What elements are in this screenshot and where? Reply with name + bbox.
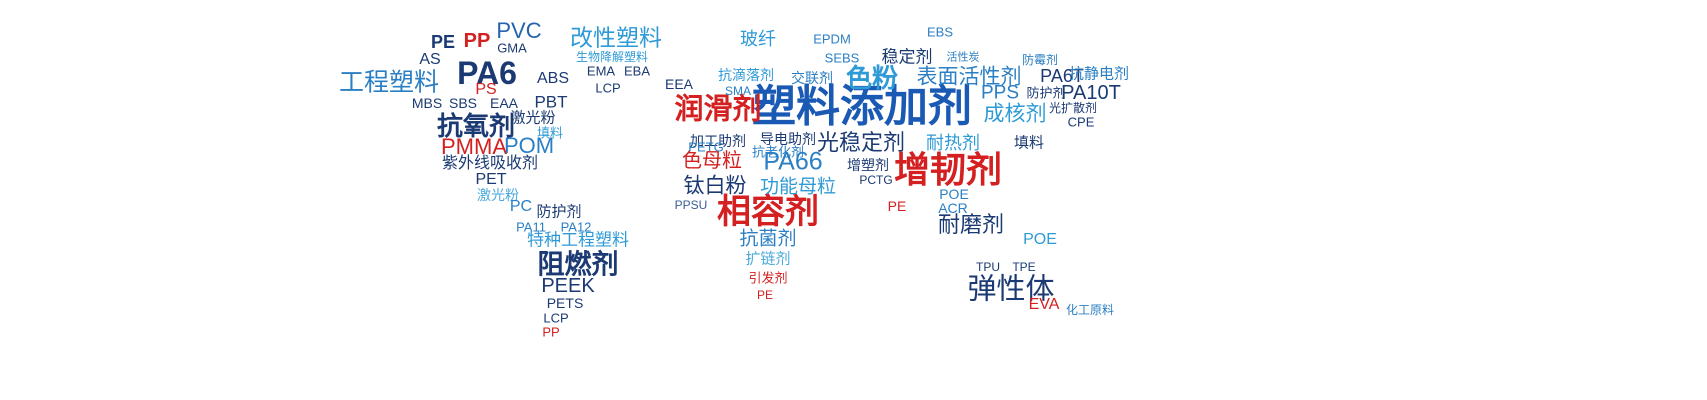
cloud-word[interactable]: 抗菌剂 <box>739 230 796 249</box>
cloud-word[interactable]: 引发剂 <box>748 272 787 285</box>
cloud-word[interactable]: 防护剂 <box>536 205 581 220</box>
cloud-word[interactable]: TPE <box>1012 261 1035 273</box>
cloud-word[interactable]: PCTG <box>859 174 892 186</box>
cloud-word[interactable]: PA11 <box>516 221 546 234</box>
cloud-word[interactable]: PET <box>475 172 506 188</box>
cloud-word[interactable]: 功能母粒 <box>760 178 836 197</box>
cloud-word[interactable]: 填料 <box>537 127 563 140</box>
cloud-word[interactable]: PBT <box>534 94 567 111</box>
cloud-word[interactable]: SMA <box>725 85 751 97</box>
cloud-word[interactable]: 紫外线吸收剂 <box>442 156 538 172</box>
cloud-word[interactable]: PP <box>464 31 491 51</box>
cloud-word[interactable]: EMA <box>587 65 615 78</box>
cloud-word[interactable]: LCP <box>543 312 568 325</box>
cloud-word[interactable]: 改性塑料 <box>570 27 662 50</box>
cloud-word[interactable]: PC <box>510 199 532 215</box>
cloud-word[interactable]: PEEK <box>541 276 594 296</box>
cloud-word[interactable]: 耐磨剂 <box>938 214 1004 236</box>
cloud-word[interactable]: PE <box>757 289 773 301</box>
cloud-word[interactable]: PETS <box>547 296 584 310</box>
cloud-word[interactable]: 玻纤 <box>740 30 776 48</box>
cloud-word[interactable]: 润滑剂 <box>674 96 761 125</box>
cloud-word[interactable]: 填料 <box>1014 136 1044 151</box>
cloud-word[interactable]: CPE <box>1068 116 1095 129</box>
cloud-word[interactable]: PE <box>431 33 455 51</box>
cloud-word[interactable]: PP <box>542 326 559 339</box>
cloud-word[interactable]: TPU <box>976 261 1000 273</box>
cloud-word[interactable]: 防霉剂 <box>1022 54 1058 66</box>
cloud-word[interactable]: 色粉 <box>846 65 898 91</box>
cloud-word[interactable]: 耐热剂 <box>926 134 980 152</box>
cloud-word[interactable]: GMA <box>497 42 527 55</box>
cloud-word[interactable]: 工程塑料 <box>339 71 439 96</box>
cloud-word[interactable]: PVC <box>496 20 541 42</box>
cloud-word[interactable]: 抗老化剂 <box>752 146 804 159</box>
cloud-word[interactable]: 扩链剂 <box>745 252 790 267</box>
cloud-word[interactable]: EAA <box>490 96 518 110</box>
cloud-word[interactable]: 生物降解塑料 <box>576 51 648 63</box>
cloud-word[interactable]: POE <box>1023 232 1057 248</box>
cloud-word[interactable]: POE <box>939 187 969 201</box>
cloud-word[interactable]: 光稳定剂 <box>817 132 905 154</box>
word-cloud-canvas: 塑料添加剂增韧剂相容剂润滑剂阻燃剂弹性体色粉工程塑料PA6抗氧剂改性塑料表面活性… <box>0 0 1707 400</box>
cloud-word[interactable]: 钛白粉 <box>684 176 747 197</box>
cloud-word[interactable]: ABS <box>537 71 569 87</box>
cloud-word[interactable]: EVA <box>1029 297 1060 313</box>
cloud-word[interactable]: SBS <box>449 96 477 110</box>
cloud-word[interactable]: 抗滴落剂 <box>718 68 774 82</box>
cloud-word[interactable]: AS <box>419 52 440 68</box>
cloud-word[interactable]: 活性炭 <box>947 53 980 64</box>
cloud-word[interactable]: LCP <box>595 82 620 95</box>
cloud-word[interactable]: EEA <box>665 77 693 91</box>
cloud-word[interactable]: EBS <box>927 26 953 39</box>
cloud-word[interactable]: 成核剂 <box>984 104 1047 125</box>
cloud-word[interactable]: PA10T <box>1061 83 1121 103</box>
cloud-word[interactable]: 激光粉 <box>510 111 555 126</box>
cloud-word[interactable]: 增塑剂 <box>847 158 889 172</box>
cloud-word[interactable]: ACR <box>938 201 968 215</box>
cloud-word[interactable]: PA12 <box>561 221 592 234</box>
cloud-word[interactable]: 防护剂 <box>1026 87 1065 100</box>
cloud-word[interactable]: PPS <box>981 84 1019 103</box>
cloud-word[interactable]: MBS <box>412 96 442 110</box>
cloud-word[interactable]: 抗静电剂 <box>1069 67 1129 82</box>
cloud-word[interactable]: SEBS <box>825 52 860 65</box>
cloud-word[interactable]: PE <box>888 199 907 213</box>
cloud-word[interactable]: 化工原料 <box>1066 304 1114 316</box>
cloud-word[interactable]: 相容剂 <box>717 195 819 229</box>
cloud-word[interactable]: PPSU <box>675 199 708 211</box>
cloud-word[interactable]: PETG <box>688 141 723 154</box>
cloud-word[interactable]: 增韧剂 <box>894 152 1002 188</box>
cloud-word[interactable]: 稳定剂 <box>882 49 933 66</box>
cloud-word[interactable]: 光扩散剂 <box>1049 102 1097 114</box>
cloud-word[interactable]: 交联剂 <box>791 71 833 85</box>
cloud-word[interactable]: EPDM <box>813 33 851 46</box>
cloud-word[interactable]: EBA <box>624 65 650 78</box>
